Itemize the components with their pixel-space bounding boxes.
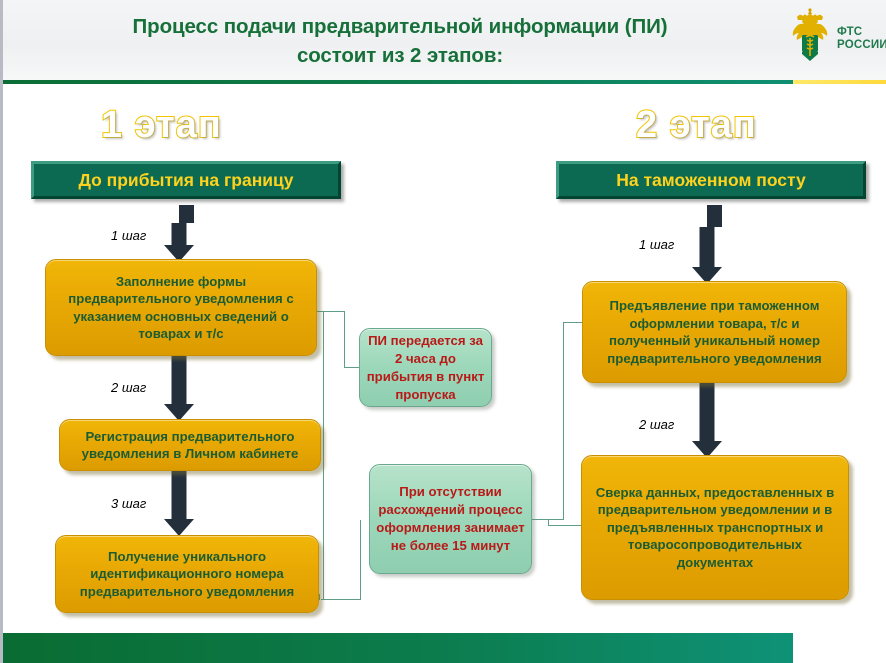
footer-gold-segment [793, 633, 886, 663]
connector-into-right-box-1 [563, 322, 583, 323]
connector-right-joint [548, 519, 549, 526]
left-step-label-1: 1 шаг [111, 228, 146, 243]
left-step-label-3: 3 шаг [111, 496, 146, 511]
slide-canvas: Процесс подачи предварительной информаци… [0, 0, 886, 663]
connector-left1-vertical [344, 311, 345, 368]
stage-1-header-connector-stub [179, 205, 194, 223]
connector-left-spine-riser [360, 520, 361, 600]
page-title: Процесс подачи предварительной информаци… [55, 12, 745, 70]
header-divider-gold-segment [793, 80, 886, 84]
connector-left-gold3-tap [319, 594, 320, 600]
connector-into-callout-1 [344, 367, 360, 368]
left-process-box-1[interactable]: Заполнение формы предварительного уведом… [45, 259, 317, 356]
connector-left-spine [323, 312, 324, 600]
stage-2-header-box[interactable]: На таможенном посту [556, 161, 866, 199]
footer-green-segment [3, 633, 793, 663]
left-process-box-3[interactable]: Получение уникального идентификационного… [55, 535, 319, 613]
logo-text-line-1: ФТС [837, 26, 886, 39]
page-title-line-2: состоит из 2 этапов: [55, 41, 745, 70]
connector-callout2-vertical [563, 322, 564, 520]
connector-left-spine-foot [321, 599, 361, 600]
stage-1-header-box[interactable]: До прибытия на границу [31, 161, 341, 199]
stage-label-1: 1 этап [101, 104, 222, 147]
right-arrow-step-2 [692, 383, 722, 461]
page-title-line-1: Процесс подачи предварительной информаци… [55, 12, 745, 41]
left-arrow-step-3 [164, 471, 194, 539]
left-step-label-2: 2 шаг [111, 380, 146, 395]
logo-text-line-2: РОССИИ [837, 39, 886, 52]
connector-into-right-box-2 [548, 525, 582, 526]
left-process-box-2[interactable]: Регистрация предварительного уведомления… [59, 419, 321, 471]
left-arrow-step-2 [164, 356, 194, 424]
stage-label-2: 2 этап [636, 104, 757, 147]
callout-box-1[interactable]: ПИ передается за 2 часа до прибытия в пу… [359, 328, 492, 407]
header-divider-green-segment [3, 80, 793, 84]
right-arrow-step-1 [692, 227, 722, 287]
callout-box-2[interactable]: При отсутствии расхождений процесс оформ… [369, 464, 532, 574]
fts-russia-emblem-icon: ФТС РОССИИ [785, 8, 881, 74]
right-process-box-2[interactable]: Сверка данных, предоставленных в предвар… [581, 455, 849, 600]
left-arrow-step-1 [164, 223, 194, 263]
connector-left1-horizontal [317, 311, 345, 312]
footer-band [3, 633, 886, 663]
stage-2-header-connector-stub [707, 205, 722, 227]
right-process-box-1[interactable]: Предъявление при таможенном оформлении т… [582, 281, 847, 383]
fts-russia-logo-text: ФТС РОССИИ [837, 26, 886, 52]
right-step-label-2: 2 шаг [639, 417, 674, 432]
right-step-label-1: 1 шаг [639, 237, 674, 252]
header-divider [3, 80, 886, 84]
